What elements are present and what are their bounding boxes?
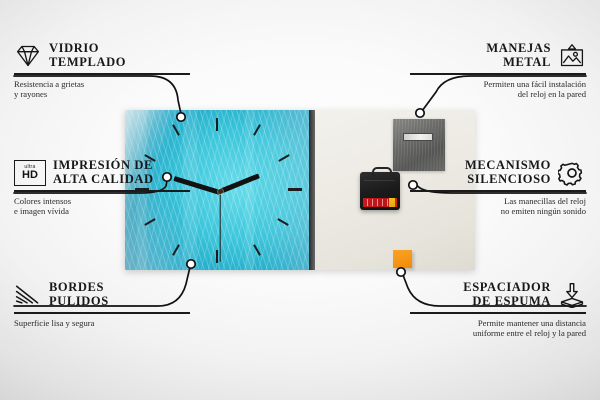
feature-desc-line1: Resistencia a grietas <box>14 79 190 90</box>
connector-dot-espaciador <box>397 268 405 276</box>
feature-title-line1: MANEJAS <box>486 42 551 56</box>
feature-bordes-pulidos: BORDES PULIDOS Superficie lisa y segura <box>14 281 190 328</box>
feature-desc-line2: no emiten ningún sonido <box>410 206 586 217</box>
polished-edge-icon <box>14 282 42 308</box>
feature-divider <box>14 190 190 192</box>
feature-title-line1: IMPRESIÓN DE <box>53 159 154 173</box>
feature-espaciador-espuma: ESPACIADOR DE ESPUMA Permite mantener un… <box>410 281 586 339</box>
feature-title-line2: PULIDOS <box>49 295 109 309</box>
foam-spacer-arrow-icon <box>558 282 586 308</box>
feature-desc-line1: Colores intensos <box>14 196 190 207</box>
connector-dot-bordes <box>187 260 195 268</box>
feature-title-line2: SILENCIOSO <box>465 173 551 187</box>
feature-divider <box>410 312 586 314</box>
gear-icon <box>558 160 586 186</box>
feature-desc-line2: e imagen vívida <box>14 206 190 217</box>
feature-title-line2: ALTA CALIDAD <box>53 173 154 187</box>
feature-desc-line2: del reloj en la pared <box>410 89 586 100</box>
feature-desc-line1: Las manecillas del reloj <box>410 196 586 207</box>
ultra-hd-icon: ultraHD <box>14 160 46 186</box>
connector-dot-vidrio <box>177 113 185 121</box>
feature-desc-line1: Superficie lisa y segura <box>14 318 190 329</box>
feature-vidrio-templado: VIDRIO TEMPLADO Resistencia a grietas y … <box>14 42 190 100</box>
feature-desc-line1: Permite mantener una distancia <box>410 318 586 329</box>
feature-divider <box>14 73 190 75</box>
feature-desc-line1: Permiten una fácil instalación <box>410 79 586 90</box>
feature-title-line1: MECANISMO <box>465 159 551 173</box>
feature-title-line2: METAL <box>486 56 551 70</box>
feature-divider <box>14 312 190 314</box>
feature-title-line2: DE ESPUMA <box>463 295 551 309</box>
feature-desc-line2: y rayones <box>14 89 190 100</box>
feature-impresion-alta-calidad: ultraHD IMPRESIÓN DE ALTA CALIDAD Colore… <box>14 159 190 217</box>
feature-divider <box>410 73 586 75</box>
wall-frame-hanger-icon <box>558 43 586 69</box>
feature-title-line1: BORDES <box>49 281 109 295</box>
feature-title-line1: ESPACIADOR <box>463 281 551 295</box>
feature-title-line2: TEMPLADO <box>49 56 126 70</box>
diamond-icon <box>14 43 42 69</box>
feature-title-line1: VIDRIO <box>49 42 126 56</box>
connector-dot-manejas <box>416 109 424 117</box>
feature-manejas-metal: MANEJAS METAL Permiten una fácil instala… <box>410 42 586 100</box>
feature-divider <box>410 190 586 192</box>
feature-mecanismo-silencioso: MECANISMO SILENCIOSO Las manecillas del … <box>410 159 586 217</box>
infographic-canvas: VIDRIO TEMPLADO Resistencia a grietas y … <box>0 0 600 400</box>
feature-desc-line2: uniforme entre el reloj y la pared <box>410 328 586 339</box>
